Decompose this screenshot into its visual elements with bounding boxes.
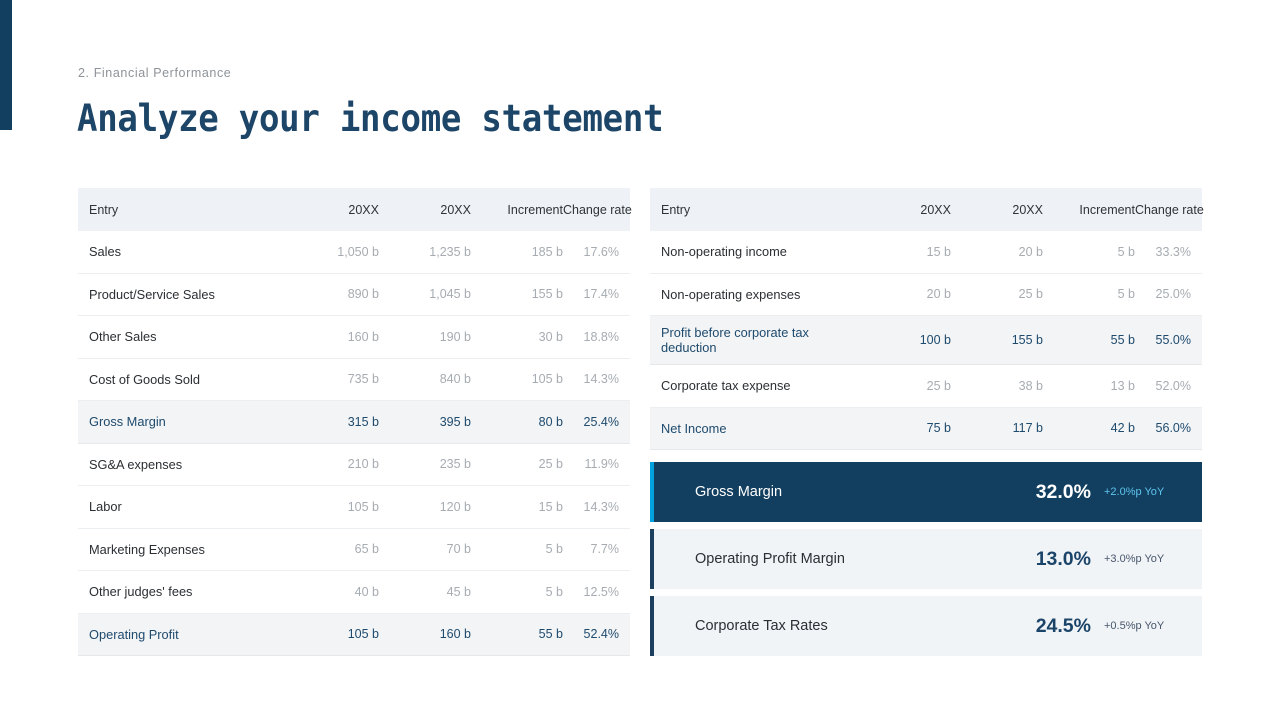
table-row[interactable]: Product/Service Sales890 b1,045 b155 b17… — [78, 274, 630, 317]
cell-y2: 120 b — [379, 500, 471, 514]
cell-rate: 52.4% — [563, 627, 619, 641]
column-header: Increment — [471, 203, 563, 217]
cell-y1: 65 b — [289, 542, 379, 556]
table-row[interactable]: Marketing Expenses65 b70 b5 b7.7% — [78, 529, 630, 572]
table-header-row: Entry20XX20XXIncrementChange rate — [650, 188, 1202, 231]
cell-rate: 17.6% — [563, 245, 619, 259]
cell-entry-label: Sales — [89, 244, 289, 259]
cell-y2: 395 b — [379, 415, 471, 429]
cell-y1: 105 b — [289, 500, 379, 514]
cell-y2: 70 b — [379, 542, 471, 556]
cell-y2: 45 b — [379, 585, 471, 599]
cell-y2: 20 b — [951, 245, 1043, 259]
cell-y2: 155 b — [951, 333, 1043, 347]
page-title: Analyze your income statement — [77, 98, 663, 140]
table-row[interactable]: Corporate tax expense25 b38 b13 b52.0% — [650, 365, 1202, 408]
cell-y1: 105 b — [289, 627, 379, 641]
column-header: Change rate — [1135, 203, 1204, 217]
cell-inc: 5 b — [1043, 287, 1135, 301]
income-statement-table-left: Entry20XX20XXIncrementChange rateSales1,… — [78, 188, 630, 656]
cell-rate: 18.8% — [563, 330, 619, 344]
cell-rate: 7.7% — [563, 542, 619, 556]
column-header: Entry — [661, 203, 861, 217]
cell-inc: 185 b — [471, 245, 563, 259]
cell-entry-label: Labor — [89, 499, 289, 514]
cell-y2: 160 b — [379, 627, 471, 641]
cell-inc: 105 b — [471, 372, 563, 386]
column-header: Increment — [1043, 203, 1135, 217]
table-row[interactable]: Profit before corporate tax deduction100… — [650, 316, 1202, 365]
table-row[interactable]: Sales1,050 b1,235 b185 b17.6% — [78, 231, 630, 274]
kpi-label: Operating Profit Margin — [695, 551, 1036, 567]
kpi-card[interactable]: Gross Margin32.0%+2.0%p YoY — [650, 462, 1202, 522]
table-header-row: Entry20XX20XXIncrementChange rate — [78, 188, 630, 231]
kpi-card-list: Gross Margin32.0%+2.0%p YoYOperating Pro… — [650, 462, 1202, 663]
cell-inc: 55 b — [1043, 333, 1135, 347]
cell-rate: 55.0% — [1135, 333, 1191, 347]
kpi-accent-bar — [650, 529, 654, 589]
cell-inc: 5 b — [471, 542, 563, 556]
table-row[interactable]: Non-operating expenses20 b25 b5 b25.0% — [650, 274, 1202, 317]
kpi-delta: +2.0%p YoY — [1104, 486, 1188, 498]
cell-y1: 210 b — [289, 457, 379, 471]
cell-rate: 14.3% — [563, 500, 619, 514]
cell-inc: 30 b — [471, 330, 563, 344]
column-header: 20XX — [379, 203, 471, 217]
cell-y1: 15 b — [861, 245, 951, 259]
table-row[interactable]: Non-operating income15 b20 b5 b33.3% — [650, 231, 1202, 274]
cell-entry-label: Gross Margin — [89, 414, 289, 429]
cell-y2: 190 b — [379, 330, 471, 344]
cell-y2: 1,235 b — [379, 245, 471, 259]
cell-y2: 1,045 b — [379, 287, 471, 301]
cell-y1: 1,050 b — [289, 245, 379, 259]
table-row[interactable]: Cost of Goods Sold735 b840 b105 b14.3% — [78, 359, 630, 402]
cell-rate: 52.0% — [1135, 379, 1191, 393]
left-edge-accent-bar — [0, 0, 12, 130]
cell-y2: 117 b — [951, 421, 1043, 435]
cell-inc: 5 b — [471, 585, 563, 599]
kpi-label: Gross Margin — [695, 484, 1036, 500]
column-header: Entry — [89, 203, 289, 217]
table-row[interactable]: SG&A expenses210 b235 b25 b11.9% — [78, 444, 630, 487]
cell-y2: 38 b — [951, 379, 1043, 393]
cell-rate: 33.3% — [1135, 245, 1191, 259]
cell-y1: 75 b — [861, 421, 951, 435]
cell-rate: 25.4% — [563, 415, 619, 429]
cell-entry-label: Profit before corporate tax deduction — [661, 325, 861, 355]
kpi-accent-bar — [650, 596, 654, 656]
cell-y1: 25 b — [861, 379, 951, 393]
cell-entry-label: Other judges' fees — [89, 584, 289, 599]
cell-entry-label: Non-operating income — [661, 244, 861, 259]
cell-rate: 14.3% — [563, 372, 619, 386]
kpi-delta: +3.0%p YoY — [1104, 553, 1188, 565]
cell-y1: 100 b — [861, 333, 951, 347]
cell-y2: 25 b — [951, 287, 1043, 301]
cell-y1: 20 b — [861, 287, 951, 301]
cell-inc: 25 b — [471, 457, 563, 471]
cell-y1: 735 b — [289, 372, 379, 386]
cell-entry-label: Cost of Goods Sold — [89, 372, 289, 387]
slide-canvas: 2. Financial Performance Analyze your in… — [0, 0, 1280, 720]
cell-entry-label: Other Sales — [89, 329, 289, 344]
cell-entry-label: Product/Service Sales — [89, 287, 289, 302]
cell-entry-label: Non-operating expenses — [661, 287, 861, 302]
kpi-accent-bar — [650, 462, 654, 522]
column-header: Change rate — [563, 203, 632, 217]
income-statement-table-right: Entry20XX20XXIncrementChange rateNon-ope… — [650, 188, 1202, 450]
table-row[interactable]: Other judges' fees40 b45 b5 b12.5% — [78, 571, 630, 614]
cell-rate: 11.9% — [563, 457, 619, 471]
table-row[interactable]: Net Income75 b117 b42 b56.0% — [650, 408, 1202, 451]
column-header: 20XX — [289, 203, 379, 217]
kpi-delta: +0.5%p YoY — [1104, 620, 1188, 632]
column-header: 20XX — [861, 203, 951, 217]
cell-inc: 15 b — [471, 500, 563, 514]
cell-y1: 890 b — [289, 287, 379, 301]
kpi-label: Corporate Tax Rates — [695, 618, 1036, 634]
kpi-value: 24.5% — [1036, 615, 1091, 638]
cell-y2: 840 b — [379, 372, 471, 386]
table-row[interactable]: Gross Margin315 b395 b80 b25.4% — [78, 401, 630, 444]
cell-entry-label: Corporate tax expense — [661, 378, 861, 393]
cell-entry-label: Net Income — [661, 421, 861, 436]
cell-inc: 155 b — [471, 287, 563, 301]
cell-rate: 17.4% — [563, 287, 619, 301]
cell-rate: 12.5% — [563, 585, 619, 599]
kpi-value: 32.0% — [1036, 481, 1091, 504]
table-row[interactable]: Labor105 b120 b15 b14.3% — [78, 486, 630, 529]
cell-y1: 40 b — [289, 585, 379, 599]
column-header: 20XX — [951, 203, 1043, 217]
table-row[interactable]: Operating Profit105 b160 b55 b52.4% — [78, 614, 630, 657]
cell-inc: 55 b — [471, 627, 563, 641]
cell-rate: 56.0% — [1135, 421, 1191, 435]
cell-inc: 80 b — [471, 415, 563, 429]
kpi-value: 13.0% — [1036, 548, 1091, 571]
kpi-card[interactable]: Operating Profit Margin13.0%+3.0%p YoY — [650, 529, 1202, 589]
cell-y1: 315 b — [289, 415, 379, 429]
table-row[interactable]: Other Sales160 b190 b30 b18.8% — [78, 316, 630, 359]
section-eyebrow: 2. Financial Performance — [78, 66, 231, 80]
cell-y1: 160 b — [289, 330, 379, 344]
cell-inc: 5 b — [1043, 245, 1135, 259]
cell-entry-label: Marketing Expenses — [89, 542, 289, 557]
cell-y2: 235 b — [379, 457, 471, 471]
cell-entry-label: SG&A expenses — [89, 457, 289, 472]
cell-inc: 13 b — [1043, 379, 1135, 393]
kpi-card[interactable]: Corporate Tax Rates24.5%+0.5%p YoY — [650, 596, 1202, 656]
cell-entry-label: Operating Profit — [89, 627, 289, 642]
cell-rate: 25.0% — [1135, 287, 1191, 301]
cell-inc: 42 b — [1043, 421, 1135, 435]
